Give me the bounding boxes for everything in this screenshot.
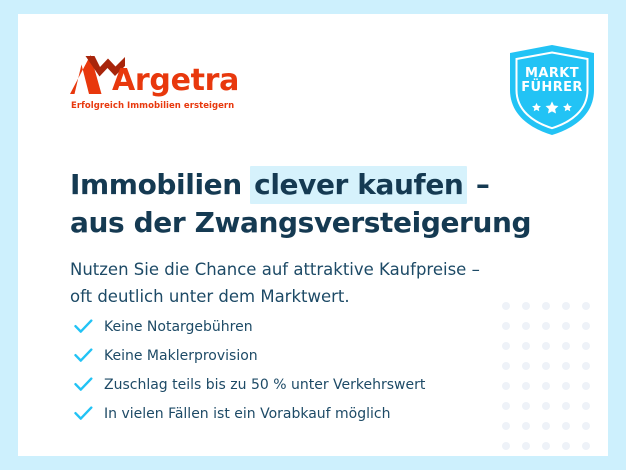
decorative-dot (562, 442, 570, 450)
shield-badge-icon (507, 44, 597, 136)
check-icon (74, 405, 100, 423)
decorative-dot (582, 342, 590, 350)
decorative-dot (582, 382, 590, 390)
list-item: Zuschlag teils bis zu 50 % unter Verkehr… (74, 370, 544, 399)
decorative-dot (562, 342, 570, 350)
market-leader-badge: MARKT FÜHRER (507, 44, 597, 136)
list-item-label: Keine Notargebühren (100, 320, 253, 334)
headline-line-1: Immobilien clever kaufen – (70, 166, 570, 204)
decorative-dot (582, 322, 590, 330)
logo-tagline: Erfolgreich Immobilien ersteigern (71, 101, 234, 111)
list-item-label: Zuschlag teils bis zu 50 % unter Verkehr… (100, 378, 425, 392)
subheading: Nutzen Sie die Chance auf attraktive Kau… (70, 256, 570, 310)
check-icon (74, 347, 100, 365)
headline-prefix: Immobilien (70, 168, 251, 201)
banner-card: Argetra Erfolgreich Immobilien ersteiger… (18, 14, 608, 456)
decorative-dot (562, 382, 570, 390)
check-icon (74, 318, 100, 336)
decorative-dot (562, 402, 570, 410)
decorative-dot (562, 362, 570, 370)
list-item: Keine Notargebühren (74, 312, 544, 341)
list-item-label: In vielen Fällen ist ein Vorabkauf mögli… (100, 407, 391, 421)
list-item: In vielen Fällen ist ein Vorabkauf mögli… (74, 399, 544, 428)
decorative-dot (582, 442, 590, 450)
list-item-label: Keine Maklerprovision (100, 349, 258, 363)
check-icon (74, 376, 100, 394)
logo-wordmark: Argetra (112, 66, 239, 96)
argetra-logo[interactable]: Argetra Erfolgreich Immobilien ersteiger… (70, 54, 250, 116)
headline-suffix: – (466, 168, 489, 201)
decorative-dot (562, 422, 570, 430)
subheading-line-1: Nutzen Sie die Chance auf attraktive Kau… (70, 256, 570, 283)
decorative-dot (582, 302, 590, 310)
decorative-dot (542, 442, 550, 450)
headline-highlight: clever kaufen (250, 166, 467, 204)
page-title: Immobilien clever kaufen – aus der Zwang… (70, 166, 570, 242)
headline-line-2: aus der Zwangsversteigerung (70, 204, 570, 242)
promo-banner: Argetra Erfolgreich Immobilien ersteiger… (0, 0, 626, 470)
subheading-line-2: oft deutlich unter dem Marktwert. (70, 283, 570, 310)
list-item: Keine Maklerprovision (74, 341, 544, 370)
decorative-dot (502, 442, 510, 450)
decorative-dot (562, 322, 570, 330)
decorative-dot (582, 402, 590, 410)
decorative-dot (582, 362, 590, 370)
benefits-checklist: Keine NotargebührenKeine Maklerprovision… (74, 312, 544, 428)
decorative-dot (582, 422, 590, 430)
decorative-dot (522, 442, 530, 450)
